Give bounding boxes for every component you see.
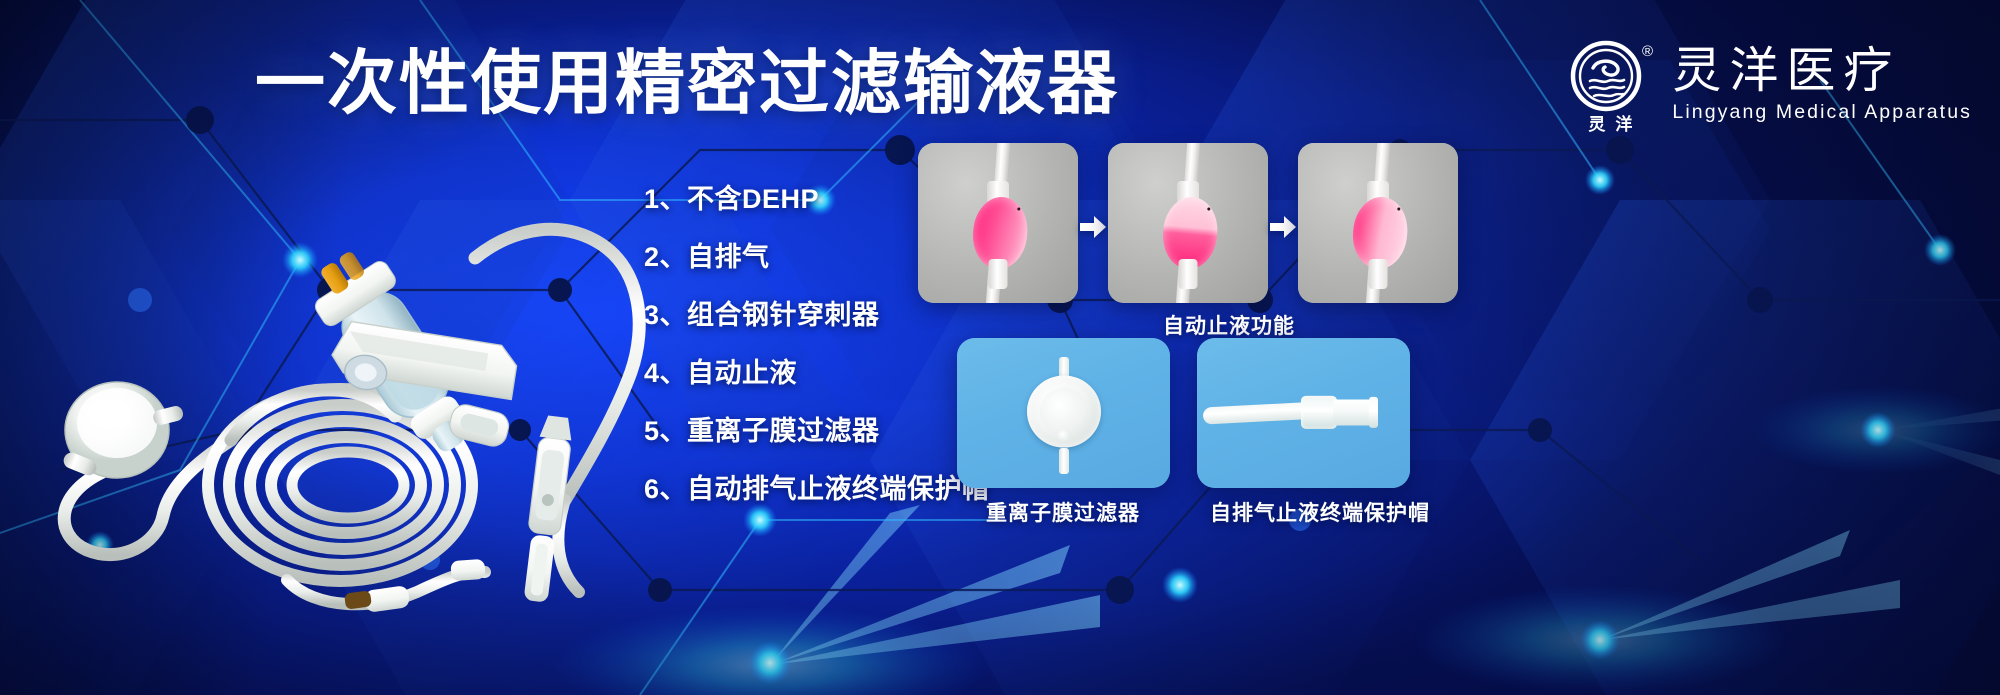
logo-mark-char-1: 灵 xyxy=(1588,115,1615,134)
arrow-right-icon xyxy=(1268,212,1298,242)
sequence-photo-1 xyxy=(918,143,1078,303)
panel-photo-cap xyxy=(1197,338,1410,488)
coupler-bottom-graphic xyxy=(989,259,1008,289)
cap-ring-graphic xyxy=(1369,397,1378,428)
coupler-bottom-graphic xyxy=(1179,259,1198,289)
filter-outlet-port xyxy=(1059,448,1069,474)
feature-item-4: 4、自动止液 xyxy=(644,344,990,402)
sequence-photo-3 xyxy=(1298,143,1458,303)
sequence-caption: 自动止液功能 xyxy=(1163,310,1295,340)
coupler-bottom-graphic xyxy=(1369,259,1388,289)
brand-text: 灵洋医疗 Lingyang Medical Apparatus xyxy=(1672,46,1972,123)
registered-mark: ® xyxy=(1642,43,1653,60)
cap-hub-graphic xyxy=(1301,396,1337,429)
sequence-photo-2 xyxy=(1108,143,1268,303)
filter-housing xyxy=(1027,376,1101,448)
panel-caption-filter: 重离子膜过滤器 xyxy=(986,497,1140,527)
feature-item-5: 5、重离子膜过滤器 xyxy=(644,402,990,460)
feature-item-6: 6、自动排气止液终端保护帽 xyxy=(644,460,990,518)
logo-mark-chinese: 灵洋 xyxy=(1564,110,1656,135)
product-banner: 一次性使用精密过滤输液器 ® 灵洋 灵洋医疗 Lingyang Medical … xyxy=(0,0,2000,695)
panel-caption-cap: 自排气止液终端保护帽 xyxy=(1210,497,1430,527)
brand-name-cn: 灵洋医疗 xyxy=(1672,46,1900,97)
panel-photo-filter xyxy=(957,338,1170,488)
page-title: 一次性使用精密过滤输液器 xyxy=(255,48,1119,118)
arrow-right-icon xyxy=(1078,212,1108,242)
brand-name-en: Lingyang Medical Apparatus xyxy=(1672,101,1972,124)
logo-mark: ® 灵洋 xyxy=(1564,38,1656,132)
logo-mark-char-2: 洋 xyxy=(1615,115,1642,134)
brand-logo: ® 灵洋 灵洋医疗 Lingyang Medical Apparatus xyxy=(1564,38,1972,132)
